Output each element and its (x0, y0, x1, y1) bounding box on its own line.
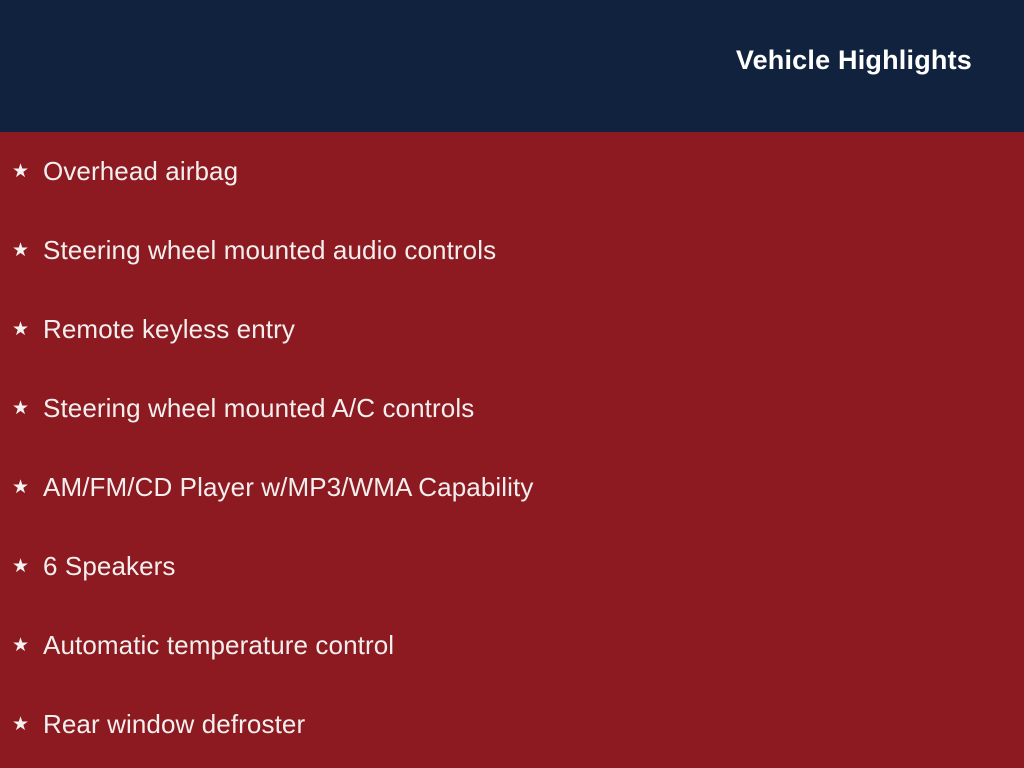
list-item-label: Remote keyless entry (43, 290, 295, 369)
star-bullet-icon: ★ (12, 132, 29, 211)
star-bullet-icon: ★ (12, 606, 29, 685)
list-item: ★ Rear window defroster (0, 685, 1024, 764)
page-title: Vehicle Highlights (736, 46, 972, 74)
slide: Vehicle Highlights ★ Overhead airbag ★ S… (0, 0, 1024, 768)
star-bullet-icon: ★ (12, 211, 29, 290)
slide-body: ★ Overhead airbag ★ Steering wheel mount… (0, 132, 1024, 768)
list-item: ★ Steering wheel mounted A/C controls (0, 369, 1024, 448)
star-bullet-icon: ★ (12, 685, 29, 764)
list-item-label: AM/FM/CD Player w/MP3/WMA Capability (43, 448, 533, 527)
slide-header: Vehicle Highlights (0, 0, 1024, 132)
list-item: ★ Automatic temperature control (0, 606, 1024, 685)
vehicle-highlights-list: ★ Overhead airbag ★ Steering wheel mount… (0, 132, 1024, 764)
star-bullet-icon: ★ (12, 448, 29, 527)
star-bullet-icon: ★ (12, 290, 29, 369)
list-item-label: Steering wheel mounted audio controls (43, 211, 496, 290)
star-bullet-icon: ★ (12, 527, 29, 606)
list-item-label: Steering wheel mounted A/C controls (43, 369, 474, 448)
list-item-label: Automatic temperature control (43, 606, 394, 685)
list-item: ★ Remote keyless entry (0, 290, 1024, 369)
list-item: ★ Steering wheel mounted audio controls (0, 211, 1024, 290)
list-item: ★ 6 Speakers (0, 527, 1024, 606)
list-item: ★ Overhead airbag (0, 132, 1024, 211)
star-bullet-icon: ★ (12, 369, 29, 448)
list-item-label: Overhead airbag (43, 132, 238, 211)
list-item-label: Rear window defroster (43, 685, 305, 764)
list-item-label: 6 Speakers (43, 527, 176, 606)
list-item: ★ AM/FM/CD Player w/MP3/WMA Capability (0, 448, 1024, 527)
